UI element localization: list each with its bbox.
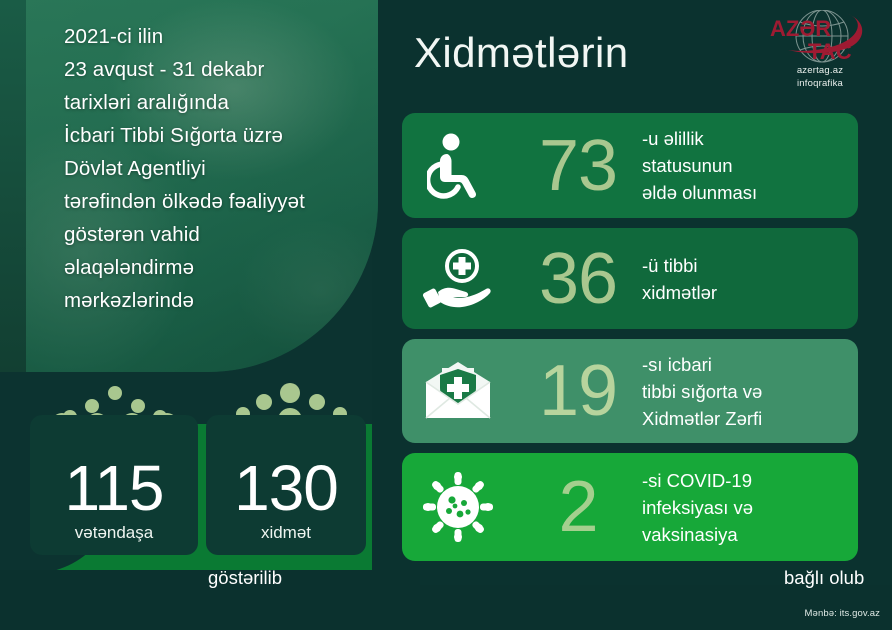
stat-card-insurance-package[interactable]: 19 -sı icbari tibbi sığorta və Xidmətlər… bbox=[402, 339, 858, 443]
wheelchair-accessibility-icon bbox=[402, 133, 514, 199]
stat-card-description: -sı icbari tibbi sığorta və Xidmətlər Zə… bbox=[642, 351, 858, 432]
stat-card-number: 36 bbox=[514, 243, 642, 315]
logo-brand-bottom: TAC bbox=[808, 39, 852, 64]
stat-card-number: 2 bbox=[514, 471, 642, 543]
stat-card-description: -u əlillik statusunun əldə olunması bbox=[642, 125, 858, 206]
caption-bagli-olub: bağlı olub bbox=[784, 566, 864, 590]
logo-site: azertag.az bbox=[760, 65, 880, 78]
statbox-value: 130 bbox=[234, 456, 338, 520]
stat-card-disability[interactable]: 73 -u əlillik statusunun əldə olunması bbox=[402, 113, 858, 218]
intro-paragraph: 2021-ci ilin 23 avqust - 31 dekabr tarix… bbox=[64, 20, 364, 317]
hero-left-strip bbox=[0, 0, 26, 372]
stat-card-number: 73 bbox=[514, 130, 642, 202]
stat-card-number: 19 bbox=[514, 355, 642, 427]
statbox-value: 115 bbox=[64, 456, 163, 520]
statbox-citizens[interactable]: 115 vətəndaşa bbox=[30, 415, 198, 555]
hand-medical-cross-icon bbox=[402, 248, 514, 310]
logo-brand-top: AZƏR bbox=[770, 16, 831, 41]
stat-card-medical-services[interactable]: 36 -ü tibbi xidmətlər bbox=[402, 228, 858, 329]
infographic-canvas: 2021-ci ilin 23 avqust - 31 dekabr tarix… bbox=[0, 0, 892, 630]
logo-subtitle: azertag.az infoqrafika bbox=[760, 65, 880, 90]
stat-card-description: -ü tibbi xidmətlər bbox=[642, 252, 858, 306]
page-title: Xidmətlərin bbox=[414, 28, 628, 78]
envelope-medical-shield-icon bbox=[402, 360, 514, 422]
logo-section: infoqrafika bbox=[760, 78, 880, 91]
virus-covid-icon bbox=[402, 471, 514, 543]
source-note: Mənbə: its.gov.az bbox=[805, 608, 880, 620]
statbox-label: xidmət bbox=[261, 522, 311, 544]
statbox-label: vətəndaşa bbox=[75, 522, 153, 544]
globe-swoosh-icon: AZƏR TAC bbox=[760, 10, 880, 64]
stat-card-description: -si COVID-19 infeksiyası və vaksinasiya bbox=[642, 467, 858, 548]
azertac-logo[interactable]: AZƏR TAC azertag.az infoqrafika bbox=[760, 10, 880, 92]
azertac-logo-mark: AZƏR TAC bbox=[760, 10, 880, 64]
stat-card-covid[interactable]: 2 -si COVID-19 infeksiyası və vaksinasiy… bbox=[402, 453, 858, 561]
caption-gosterilib: göstərilib bbox=[208, 566, 282, 590]
statbox-services[interactable]: 130 xidmət bbox=[206, 415, 366, 555]
